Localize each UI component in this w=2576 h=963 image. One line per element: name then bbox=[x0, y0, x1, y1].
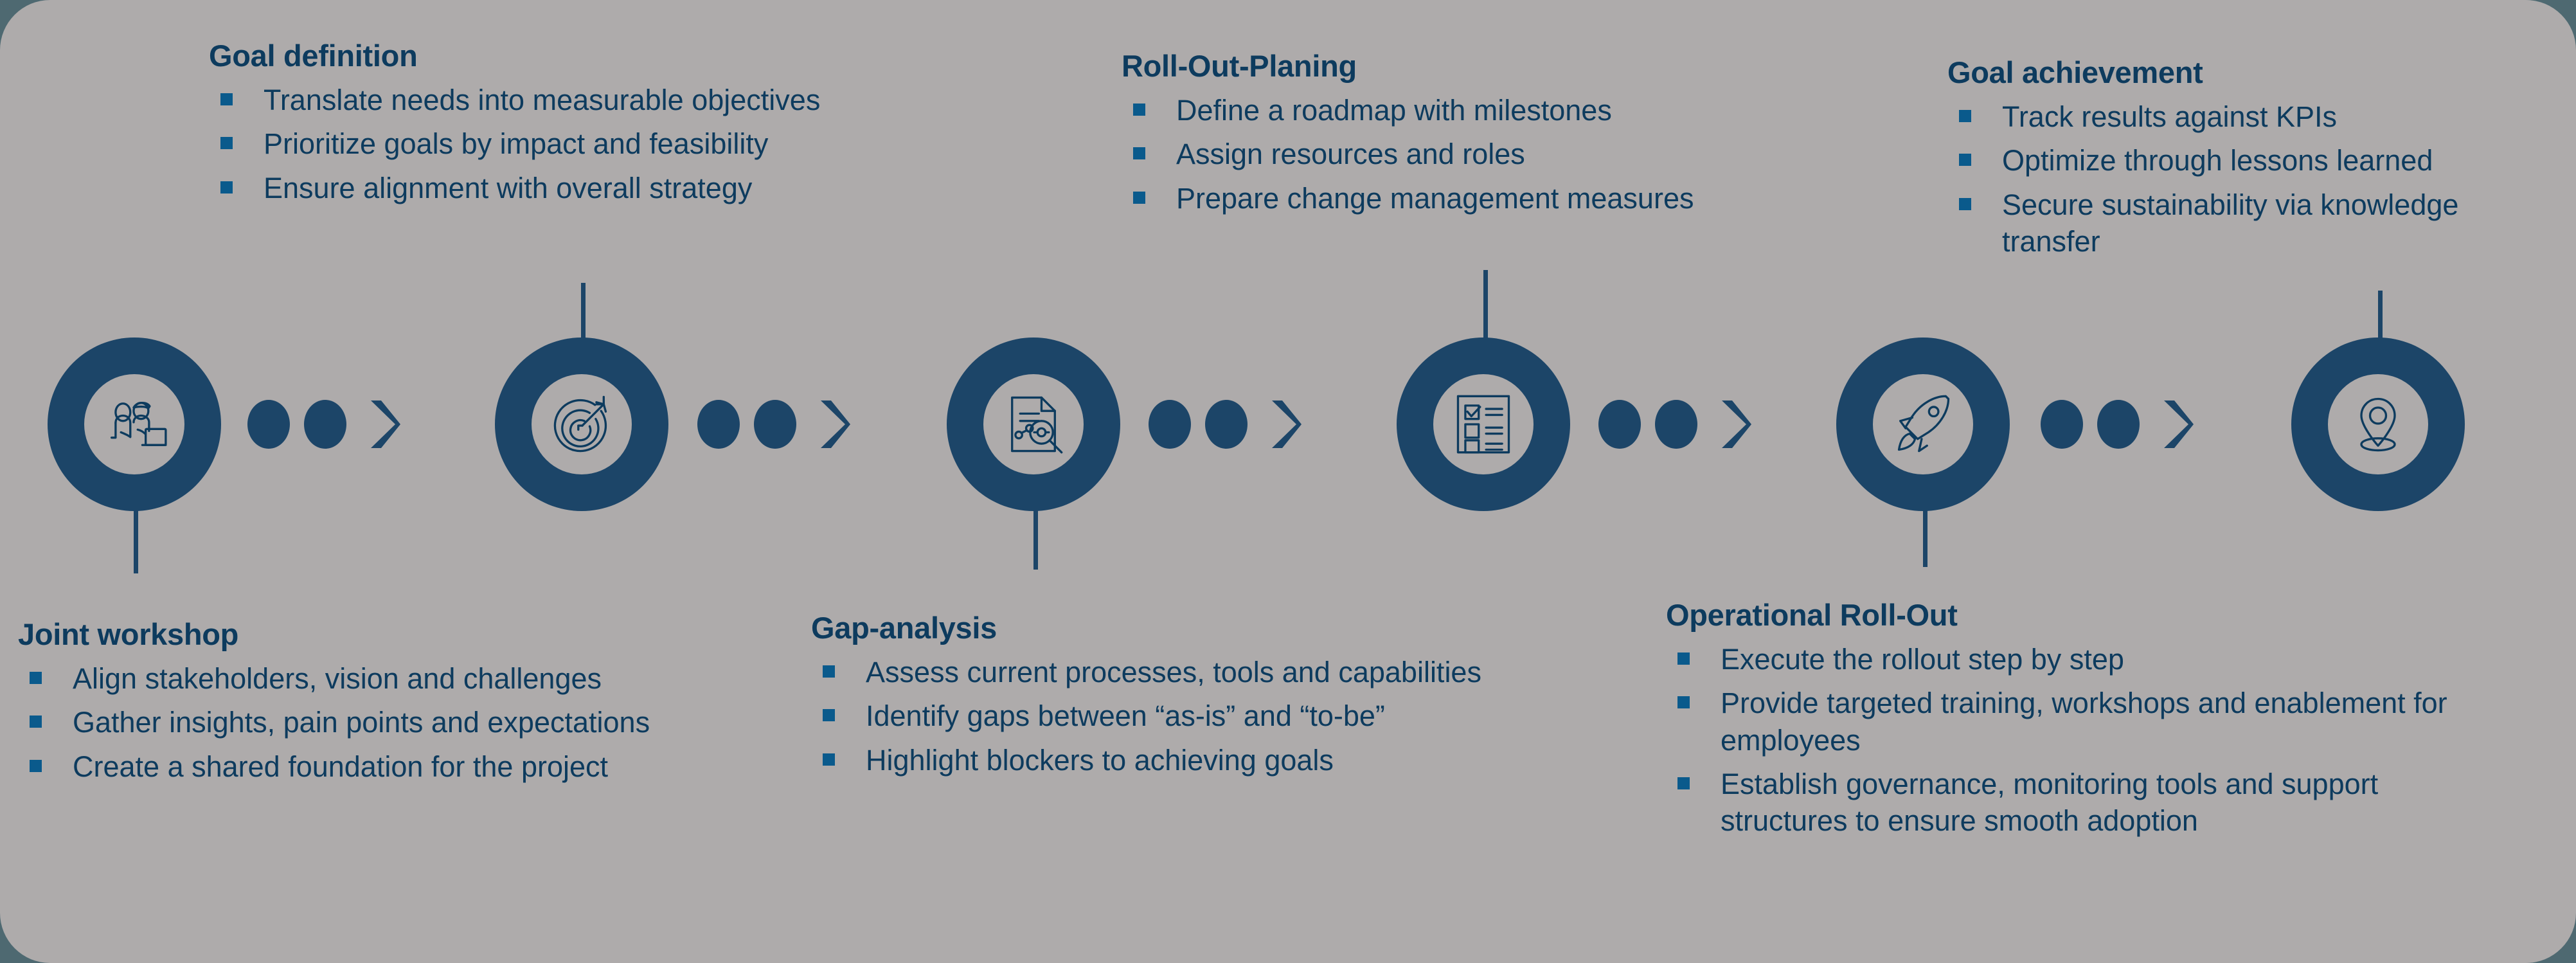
bullet-marker-icon bbox=[1133, 147, 1145, 159]
bullet-marker-icon bbox=[1677, 777, 1690, 789]
bullet-item: Establish governance, monitoring tools a… bbox=[1666, 766, 2476, 839]
bullet-item: Translate needs into measurable objectiv… bbox=[209, 82, 967, 118]
bullet-item: Prioritize goals by impact and feasibili… bbox=[209, 125, 967, 162]
step-title: Gap-analysis bbox=[811, 612, 1531, 643]
process-diagram-canvas: Goal definition Translate needs into mea… bbox=[0, 0, 2576, 963]
bullet-text: Optimize through lessons learned bbox=[2002, 144, 2433, 177]
connector-dot bbox=[1149, 400, 1191, 449]
connector-dot bbox=[1205, 400, 1248, 449]
bullet-marker-icon bbox=[1133, 192, 1145, 204]
connector-stem-step5 bbox=[1923, 505, 1928, 567]
bullet-marker-icon bbox=[220, 93, 233, 105]
step-bullet-list: Translate needs into measurable objectiv… bbox=[209, 82, 967, 206]
step-block-roll-out-planing: Roll-Out-Planing Define a roadmap with m… bbox=[1122, 50, 1893, 224]
node-icon-holder bbox=[1433, 374, 1534, 474]
step-bullet-list: Track results against KPIs Optimize thro… bbox=[1947, 98, 2545, 260]
checklist-icon bbox=[1450, 391, 1517, 458]
step-bullet-list: Assess current processes, tools and capa… bbox=[811, 654, 1531, 778]
connector-dot bbox=[247, 400, 290, 449]
bullet-item: Secure sustainability via knowledge tran… bbox=[1947, 186, 2545, 260]
bullet-item: Create a shared foundation for the proje… bbox=[18, 748, 776, 785]
bullet-marker-icon bbox=[220, 181, 233, 194]
bullet-text: Execute the rollout step by step bbox=[1721, 643, 2124, 676]
chevron-right-icon bbox=[1718, 398, 1751, 451]
bullet-text: Create a shared foundation for the proje… bbox=[73, 750, 608, 783]
bullet-marker-icon bbox=[823, 709, 835, 721]
chevron-right-icon bbox=[2160, 398, 2194, 451]
node-icon-holder bbox=[84, 374, 184, 474]
connector-dot bbox=[2097, 400, 2140, 449]
step-title: Operational Roll-Out bbox=[1666, 599, 2476, 631]
connector-dot bbox=[2041, 400, 2083, 449]
step-title: Goal achievement bbox=[1947, 57, 2545, 88]
document-magnifier-icon bbox=[1000, 391, 1067, 458]
connector-stem-step1 bbox=[134, 505, 138, 573]
step-block-goal-definition: Goal definition Translate needs into mea… bbox=[209, 40, 967, 213]
connector-3-4 bbox=[1149, 400, 1301, 449]
location-pin-icon bbox=[2345, 391, 2411, 458]
step-block-gap-analysis: Gap-analysis Assess current processes, t… bbox=[811, 612, 1531, 786]
bullet-text: Provide targeted training, workshops and… bbox=[1721, 687, 2447, 756]
process-node-joint-workshop[interactable] bbox=[48, 337, 221, 511]
process-node-roll-out-planing[interactable] bbox=[1397, 337, 1570, 511]
connector-dot bbox=[1655, 400, 1697, 449]
bullet-marker-icon bbox=[220, 137, 233, 149]
bullet-item: Assess current processes, tools and capa… bbox=[811, 654, 1531, 690]
bullet-text: Gather insights, pain points and expecta… bbox=[73, 706, 650, 739]
chevron-right-icon bbox=[817, 398, 850, 451]
step-block-operational-roll-out: Operational Roll-Out Execute the rollout… bbox=[1666, 599, 2476, 846]
target-arrow-icon bbox=[548, 391, 615, 458]
bullet-marker-icon bbox=[1959, 198, 1971, 210]
chevron-right-icon bbox=[367, 398, 400, 451]
chevron-right-icon bbox=[1268, 398, 1301, 451]
node-icon-holder bbox=[983, 374, 1084, 474]
connector-2-3 bbox=[697, 400, 850, 449]
bullet-marker-icon bbox=[823, 753, 835, 766]
step-block-goal-achievement: Goal achievement Track results against K… bbox=[1947, 57, 2545, 267]
bullet-marker-icon bbox=[1677, 652, 1690, 665]
connector-dot bbox=[697, 400, 740, 449]
node-icon-holder bbox=[532, 374, 632, 474]
bullet-marker-icon bbox=[1959, 154, 1971, 166]
bullet-item: Gather insights, pain points and expecta… bbox=[18, 704, 776, 741]
bullet-text: Translate needs into measurable objectiv… bbox=[264, 84, 820, 116]
bullet-text: Assign resources and roles bbox=[1176, 138, 1525, 170]
bullet-marker-icon bbox=[30, 760, 42, 772]
bullet-item: Provide targeted training, workshops and… bbox=[1666, 685, 2476, 758]
step-bullet-list: Align stakeholders, vision and challenge… bbox=[18, 660, 776, 784]
bullet-marker-icon bbox=[823, 665, 835, 678]
bullet-marker-icon bbox=[30, 672, 42, 684]
connector-4-5 bbox=[1598, 400, 1751, 449]
bullet-item: Ensure alignment with overall strategy bbox=[209, 170, 967, 206]
bullet-marker-icon bbox=[30, 715, 42, 728]
bullet-text: Define a roadmap with milestones bbox=[1176, 94, 1612, 127]
node-icon-holder bbox=[1873, 374, 1973, 474]
bullet-text: Highlight blockers to achieving goals bbox=[866, 744, 1334, 777]
bullet-marker-icon bbox=[1133, 104, 1145, 116]
step-bullet-list: Execute the rollout step by step Provide… bbox=[1666, 641, 2476, 839]
connector-5-6 bbox=[2041, 400, 2194, 449]
bullet-item: Execute the rollout step by step bbox=[1666, 641, 2476, 678]
step-title: Roll-Out-Planing bbox=[1122, 50, 1893, 82]
bullet-item: Assign resources and roles bbox=[1122, 136, 1893, 172]
bullet-text: Secure sustainability via knowledge tran… bbox=[2002, 188, 2458, 258]
process-node-goal-achievement[interactable] bbox=[2291, 337, 2465, 511]
step-title: Goal definition bbox=[209, 40, 967, 71]
step-block-joint-workshop: Joint workshop Align stakeholders, visio… bbox=[18, 618, 776, 792]
bullet-text: Identify gaps between “as-is” and “to-be… bbox=[866, 699, 1385, 732]
step-bullet-list: Define a roadmap with milestones Assign … bbox=[1122, 92, 1893, 216]
connector-dot bbox=[754, 400, 796, 449]
connector-1-2 bbox=[247, 400, 400, 449]
node-icon-holder bbox=[2328, 374, 2428, 474]
bullet-text: Prioritize goals by impact and feasibili… bbox=[264, 127, 768, 160]
bullet-text: Prepare change management measures bbox=[1176, 182, 1694, 215]
connector-stem-step3 bbox=[1033, 505, 1038, 570]
bullet-marker-icon bbox=[1677, 696, 1690, 708]
bullet-item: Identify gaps between “as-is” and “to-be… bbox=[811, 697, 1531, 734]
bullet-text: Establish governance, monitoring tools a… bbox=[1721, 768, 2378, 837]
bullet-text: Assess current processes, tools and capa… bbox=[866, 656, 1481, 688]
bullet-item: Track results against KPIs bbox=[1947, 98, 2545, 135]
bullet-item: Optimize through lessons learned bbox=[1947, 142, 2545, 179]
rocket-icon bbox=[1890, 391, 1956, 458]
connector-dot bbox=[1598, 400, 1641, 449]
bullet-text: Ensure alignment with overall strategy bbox=[264, 172, 752, 204]
bullet-text: Track results against KPIs bbox=[2002, 100, 2337, 133]
connector-dot bbox=[304, 400, 346, 449]
bullet-marker-icon bbox=[1959, 110, 1971, 122]
bullet-item: Define a roadmap with milestones bbox=[1122, 92, 1893, 129]
bullet-item: Highlight blockers to achieving goals bbox=[811, 742, 1531, 779]
bullet-item: Prepare change management measures bbox=[1122, 180, 1893, 217]
process-node-operational-roll-out[interactable] bbox=[1836, 337, 2010, 511]
process-node-gap-analysis[interactable] bbox=[947, 337, 1120, 511]
bullet-text: Align stakeholders, vision and challenge… bbox=[73, 662, 602, 695]
step-title: Joint workshop bbox=[18, 618, 776, 650]
workshop-people-laptop-icon bbox=[101, 391, 168, 458]
bullet-item: Align stakeholders, vision and challenge… bbox=[18, 660, 776, 697]
process-node-goal-definition[interactable] bbox=[495, 337, 668, 511]
